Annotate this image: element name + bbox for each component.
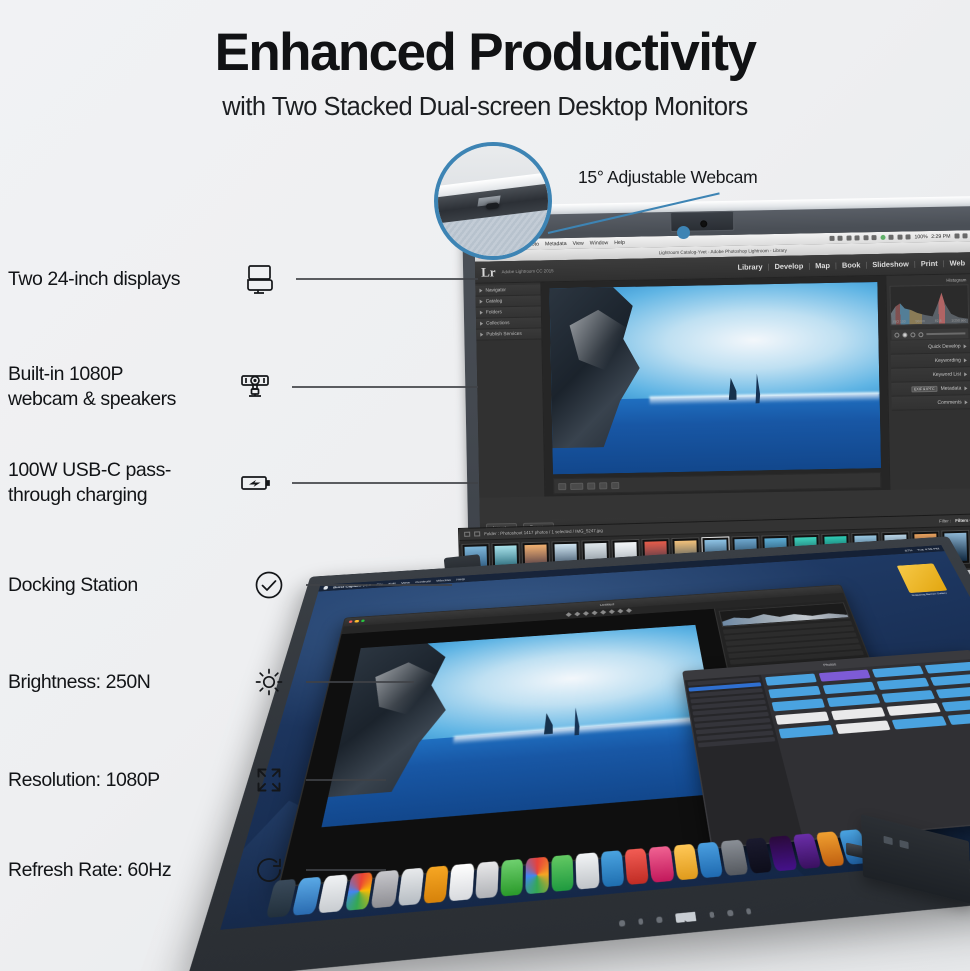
feature-usbc-charging: 100W USB-C pass- through charging: [8, 458, 478, 508]
menu-item-help[interactable]: Help: [614, 239, 625, 245]
lightroom-columns: Navigator Catalog Folders: [475, 274, 970, 497]
folder-icon[interactable]: [936, 686, 970, 699]
folder-icon[interactable]: [872, 665, 924, 677]
module-web[interactable]: Web: [949, 258, 965, 267]
filmstrip-status: Folder : Photoshoot 1417 photos / 1 sele…: [484, 528, 603, 536]
folder-icon[interactable]: [892, 716, 947, 729]
connector-line: [296, 278, 478, 280]
clock: Tue 4:56 PM: [916, 547, 940, 552]
feature-refresh-rate: Refresh Rate: 60Hz: [8, 847, 478, 893]
feature-label: 100W USB-C pass- through charging: [8, 458, 232, 508]
document-icon[interactable]: [836, 720, 891, 734]
histogram: ISO 100 50mm f/2.8 1/250 sec: [889, 284, 969, 326]
module-sep: |: [914, 259, 916, 268]
panel-label: Catalog: [486, 299, 503, 304]
feature-label: Resolution: 1080P: [8, 768, 246, 793]
folder-icon[interactable]: [925, 661, 970, 673]
document-icon[interactable]: [831, 707, 885, 720]
feature-two-displays: Two 24-inch displays: [8, 256, 478, 302]
close-icon[interactable]: [348, 620, 353, 623]
dock-contacts-icon[interactable]: [475, 861, 499, 900]
sync-icon[interactable]: [880, 235, 885, 240]
lightroom-body: Lr Adobe Lightroom CC 2015 Library | Dev…: [475, 252, 970, 535]
chevron-right-icon: [480, 311, 483, 315]
feature-label: Brightness: 250N: [8, 670, 246, 695]
dock-appstore-icon[interactable]: [600, 850, 624, 888]
check-circle-icon: [246, 562, 292, 608]
stand-ports[interactable]: [883, 836, 908, 849]
dock-facetime-icon[interactable]: [500, 859, 523, 897]
dock-photos-icon[interactable]: [526, 856, 549, 894]
folder-icon[interactable]: [765, 673, 817, 685]
dock-messages-icon[interactable]: [697, 841, 724, 878]
minimize-icon[interactable]: [355, 620, 360, 623]
spot-removal-icon[interactable]: [902, 332, 907, 337]
top-monitor: Edit Library Photo Metadata View Window …: [462, 204, 970, 564]
chevron-right-icon: [480, 300, 483, 304]
chevron-right-icon: [480, 322, 483, 326]
photo-preview[interactable]: [549, 282, 881, 474]
panel-label: Publish Services: [486, 331, 522, 337]
stats-icon[interactable]: [846, 236, 851, 241]
usb-c-port-icon[interactable]: [883, 836, 892, 845]
panel-label: Folders: [486, 310, 502, 315]
panel-metadata[interactable]: EXIF & IPTC Metadata: [891, 381, 970, 397]
dropbox-icon[interactable]: [829, 236, 834, 241]
tool-icon[interactable]: [583, 611, 589, 616]
module-book[interactable]: Book: [842, 260, 861, 269]
tool-icon[interactable]: [591, 611, 597, 616]
feature-label: Docking Station: [8, 573, 246, 598]
folder-icon[interactable]: [942, 698, 970, 711]
module-picker[interactable]: Library | Develop | Map | Book | Slidesh…: [737, 258, 965, 271]
webcam-zoom-circle: [434, 142, 552, 260]
product-infographic: Enhanced Productivity with Two Stacked D…: [0, 0, 970, 971]
panel-quick-develop[interactable]: Quick Develop: [891, 339, 970, 355]
osd-button-down[interactable]: [709, 912, 715, 918]
finder-body: [684, 658, 970, 847]
dock-numbers-icon[interactable]: [551, 854, 574, 892]
dock-maps-icon[interactable]: [576, 852, 600, 890]
folder-icon[interactable]: [877, 677, 930, 689]
feature-docking-station: Docking Station: [8, 562, 478, 608]
panel-label: Metadata: [941, 385, 962, 391]
panel-publish-services[interactable]: Publish Services: [476, 329, 541, 341]
compare-view-icon[interactable]: [587, 482, 595, 489]
folder-icon[interactable]: [827, 694, 880, 707]
module-develop[interactable]: Develop: [774, 261, 803, 271]
histogram-aperture: f/2.8: [935, 319, 942, 323]
osd-button-input[interactable]: [727, 910, 733, 916]
panel-label: Keywording: [935, 357, 961, 364]
people-view-icon[interactable]: [611, 482, 619, 489]
histogram-title: Histogram: [889, 277, 968, 284]
tool-icon[interactable]: [626, 608, 632, 613]
module-slideshow[interactable]: Slideshow: [872, 259, 909, 269]
histogram-focal: 50mm: [915, 319, 924, 323]
osd-button-up[interactable]: [656, 917, 662, 923]
lightroom-right-panel: Histogram ISO 100 50mm f/2.8 1/250 sec: [885, 274, 970, 490]
panel-label: Comments: [937, 399, 961, 405]
menu-icon[interactable]: [962, 233, 967, 238]
dock-settings-icon[interactable]: [720, 839, 748, 876]
menu-item-window[interactable]: Window: [590, 240, 609, 246]
folder-icon[interactable]: [930, 673, 970, 685]
cloud-icon[interactable]: [855, 235, 860, 240]
battery-percent: 87%: [904, 548, 913, 552]
crop-icon[interactable]: [894, 332, 899, 337]
module-map[interactable]: Map: [815, 261, 830, 270]
module-print[interactable]: Print: [921, 259, 938, 268]
panel-label: Collections: [486, 321, 510, 326]
document-icon[interactable]: [775, 711, 829, 724]
editor-title: Untitled: [600, 602, 615, 607]
webcam-icon: [232, 364, 278, 410]
feature-webcam-speakers: Built-in 1080P webcam & speakers: [8, 362, 478, 412]
brand-logo: [674, 912, 696, 923]
panel-label: Navigator: [485, 288, 506, 293]
folder-icon[interactable]: [772, 698, 825, 711]
graduated-filter-icon[interactable]: [918, 332, 923, 337]
maximize-icon[interactable]: [361, 619, 366, 622]
dock-reminders-icon[interactable]: [673, 844, 699, 881]
module-library[interactable]: Library: [737, 262, 762, 271]
tool-icon[interactable]: [574, 612, 580, 617]
folder-icon[interactable]: [823, 681, 876, 693]
folder-icon[interactable]: [779, 724, 834, 738]
editor-controls[interactable]: [723, 620, 864, 664]
survey-view-icon[interactable]: [599, 482, 607, 489]
tool-icon[interactable]: [609, 609, 615, 614]
grid-toggle-icon[interactable]: [464, 532, 470, 537]
chevron-right-icon: [964, 386, 967, 390]
feature-brightness: Brightness: 250N: [8, 659, 478, 705]
panel-keywording[interactable]: Keywording: [891, 353, 970, 369]
expand-arrows-icon: [246, 757, 292, 803]
feature-label: Two 24-inch displays: [8, 267, 236, 292]
histogram-shutter: 1/250 sec: [951, 318, 966, 322]
tool-icon[interactable]: [565, 612, 571, 617]
chevron-right-icon: [964, 358, 967, 362]
feature-label: Built-in 1080P webcam & speakers: [8, 362, 232, 412]
folder-icon[interactable]: [882, 690, 936, 703]
menu-item-view[interactable]: View: [573, 240, 584, 246]
chevron-right-icon: [965, 400, 968, 404]
chevron-right-icon: [964, 344, 967, 348]
folder-icon[interactable]: [948, 711, 970, 724]
module-sep: |: [865, 260, 867, 269]
document-icon[interactable]: [887, 702, 941, 715]
filter-label: Filter :: [939, 518, 951, 523]
lightroom-logo: Lr: [481, 264, 496, 280]
catalog-name: Adobe Lightroom CC 2015: [502, 268, 554, 274]
brightness-sun-icon: [246, 659, 292, 705]
connector-line: [306, 779, 386, 781]
panel-label: Quick Develop: [928, 343, 961, 350]
module-sep: |: [808, 261, 810, 270]
red-eye-icon[interactable]: [910, 332, 915, 337]
monitor-icon: [236, 256, 282, 302]
search-icon[interactable]: [954, 233, 959, 238]
module-sep: |: [768, 262, 770, 271]
usb-a-port-icon[interactable]: [899, 840, 908, 849]
callout-label: 15° Adjustable Webcam: [578, 167, 757, 188]
connector-line: [306, 584, 452, 586]
chevron-right-icon: [964, 372, 967, 376]
filter-value[interactable]: Filters Off: [955, 518, 970, 524]
menu-item-metadata[interactable]: Metadata: [545, 240, 567, 246]
volume-icon[interactable]: [897, 235, 902, 240]
finder-window[interactable]: Photos: [682, 649, 970, 848]
loupe-view-icon[interactable]: [570, 482, 583, 489]
screen-icon[interactable]: [838, 236, 843, 241]
connector-line: [292, 482, 478, 484]
wifi-icon[interactable]: [906, 234, 911, 239]
dock-music-icon[interactable]: [624, 848, 649, 886]
chevron-right-icon: [479, 289, 482, 293]
panel-label: Keyword List: [932, 371, 961, 378]
osd-button-menu[interactable]: [638, 919, 644, 925]
panel-comments[interactable]: Comments: [892, 395, 970, 411]
lightroom-canvas: [541, 276, 889, 497]
battery-charging-icon: [232, 460, 278, 506]
module-sep: |: [835, 261, 837, 270]
chevron-right-icon: [480, 333, 483, 337]
box-icon[interactable]: [863, 235, 868, 240]
folder-icon[interactable]: [769, 685, 822, 698]
clock: 2:29 PM: [931, 233, 950, 239]
menubar-status-icons[interactable]: 100% 2:29 PM: [829, 233, 967, 242]
battery-percent: 100%: [914, 234, 927, 240]
feature-label: Refresh Rate: 60Hz: [8, 858, 246, 883]
top-screen: Edit Library Photo Metadata View Window …: [474, 230, 970, 535]
loupe-toggle-icon[interactable]: [474, 531, 480, 536]
exposure-slider[interactable]: [926, 333, 965, 335]
grid-view-icon[interactable]: [558, 483, 566, 490]
menubar-spacer: [631, 239, 824, 243]
feature-resolution: Resolution: 1080P: [8, 757, 478, 803]
histogram-iso: ISO 100: [893, 320, 906, 324]
app-icon[interactable]: [819, 669, 871, 681]
exif-badge: EXIF & IPTC: [911, 385, 938, 392]
display-icon[interactable]: [872, 235, 877, 240]
bluetooth-icon[interactable]: [889, 235, 894, 240]
lightroom-view-toolbar[interactable]: [553, 472, 881, 494]
finder-title: Photos: [823, 663, 837, 668]
module-sep: |: [943, 259, 945, 268]
osd-button-exit[interactable]: [745, 908, 751, 914]
tool-icon[interactable]: [600, 610, 606, 615]
connector-line: [292, 386, 478, 388]
dock-podcasts-icon[interactable]: [648, 846, 674, 883]
lightroom-left-panel: Navigator Catalog Folders: [475, 282, 545, 497]
callout-anchor-dot: [677, 226, 690, 239]
connector-line: [306, 681, 414, 683]
connector-line: [306, 869, 386, 871]
tool-icon[interactable]: [617, 609, 623, 614]
panel-keyword-list[interactable]: Keyword List: [891, 367, 970, 383]
refresh-icon: [246, 847, 292, 893]
osd-button-power[interactable]: [619, 920, 625, 926]
